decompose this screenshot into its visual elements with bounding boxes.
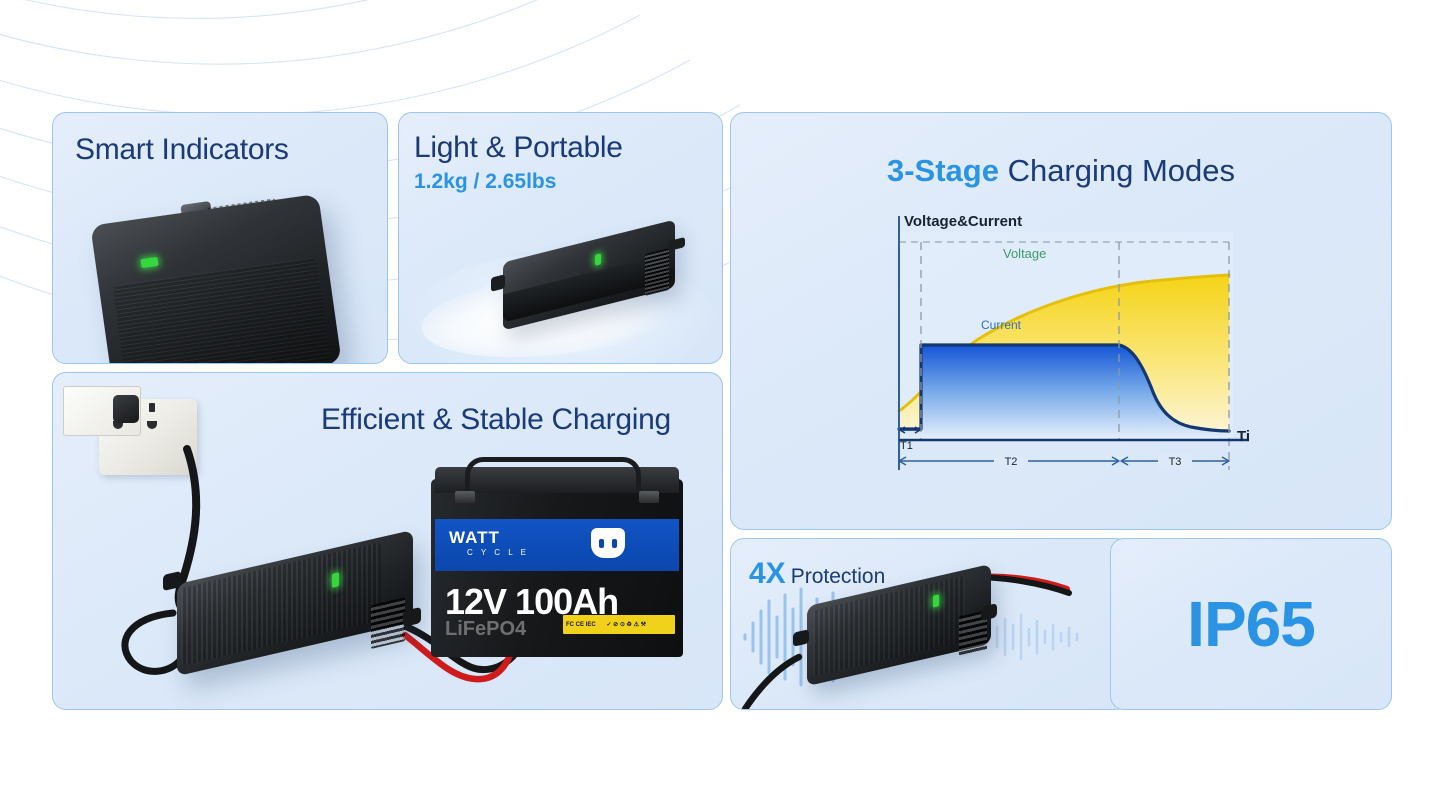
battery-chemistry-label: LiFePO4 [445, 618, 526, 641]
charging-modes-title-rest: Charging Modes [999, 153, 1235, 188]
charging-curve-chart: Voltage&Current Time Voltage Current T1 … [881, 208, 1251, 498]
battery-brand-mark-icon [591, 528, 625, 558]
battery-certification-strip: FC CE IEC ⚡ ✓ ⊘ ⊙ ♻ ⚠ ⚒ [563, 615, 675, 634]
light-portable-weight: 1.2kg / 2.65lbs [414, 170, 556, 194]
stage-label-t3: T3 [1169, 456, 1182, 468]
current-series-label: Current [981, 318, 1022, 332]
chart-x-axis-label: Time [1237, 428, 1251, 445]
battery-brand-sublabel: C Y C L E [467, 548, 529, 557]
card-efficient-stable-charging: Efficient & Stable Charging [52, 372, 723, 710]
led-indicator-green [595, 253, 601, 265]
battery-certification-text: FC CE IEC ⚡ ✓ ⊘ ⊙ ♻ ⚠ ⚒ [566, 621, 646, 628]
card-4x-protection: 4XProtection [730, 538, 1130, 710]
stage-label-t1: T1 [900, 440, 913, 452]
battery-terminal-negative [639, 491, 659, 503]
light-portable-title: Light & Portable [414, 131, 623, 165]
ip65-label: IP65 [1111, 587, 1391, 661]
stage-label-t2: T2 [1005, 456, 1018, 468]
protection-title: 4XProtection [749, 557, 885, 591]
voltage-series-label: Voltage [1003, 246, 1046, 261]
card-light-portable: Light & Portable 1.2kg / 2.65lbs [398, 112, 723, 364]
charging-modes-title: 3-Stage Charging Modes [731, 153, 1391, 189]
battery-handle [465, 457, 641, 493]
card-ip65-rating: IP65 [1110, 538, 1392, 710]
led-indicator-green [933, 594, 939, 607]
charging-modes-title-accent: 3-Stage [887, 153, 999, 188]
lifepo4-battery: WATT C Y C L E 12V 100Ah LiFePO4 FC CE I… [431, 461, 683, 657]
battery-terminal-positive [455, 491, 475, 503]
protection-label: Protection [791, 565, 886, 588]
power-plug [113, 395, 139, 423]
card-3-stage-charging-modes: 3-Stage Charging Modes [730, 112, 1392, 530]
efficient-charging-title: Efficient & Stable Charging [321, 403, 671, 437]
led-indicator-green [332, 572, 339, 588]
smart-indicators-title: Smart Indicators [75, 133, 289, 167]
protection-count: 4X [749, 557, 786, 590]
card-smart-indicators: Smart Indicators [52, 112, 388, 364]
battery-brand-logo: WATT [449, 529, 500, 546]
chart-y-axis-label: Voltage&Current [904, 213, 1022, 230]
